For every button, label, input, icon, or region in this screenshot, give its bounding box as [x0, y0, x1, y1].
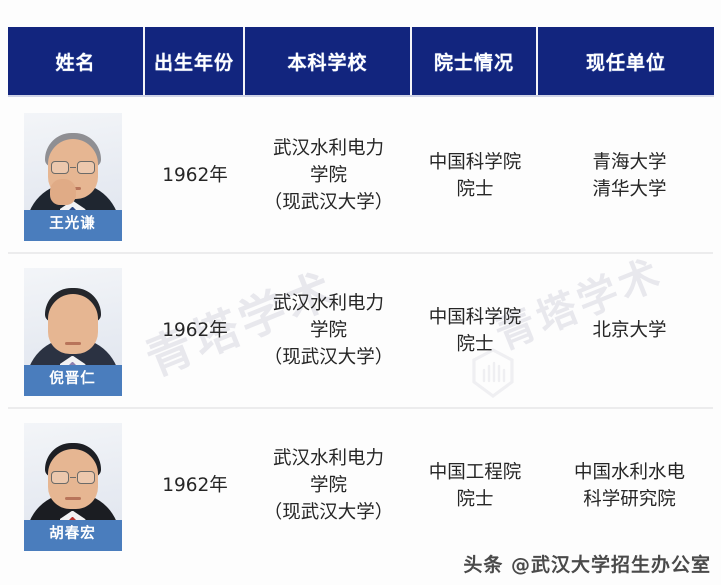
table-row: 倪晋仁 1962年 武汉水利电力 学院 （现武汉大学） 中国科学院 院士 北京大… — [0, 254, 721, 409]
person-name-tag: 胡春宏 — [24, 520, 122, 550]
cell-current-affiliation: 中国水利水电 科学研究院 — [538, 409, 721, 564]
cell-academician-status: 中国工程院 院士 — [412, 409, 538, 564]
cell-undergrad-school: 武汉水利电力 学院 （现武汉大学） — [245, 254, 412, 409]
footer-watermark: 头条 @武汉大学招生办公室 — [463, 550, 711, 577]
table-row: 王光谦 1962年 武汉水利电力 学院 （现武汉大学） 中国科学院 院士 青海大… — [0, 99, 721, 254]
cell-birth-year: 1962年 — [145, 99, 245, 254]
cell-name: 倪晋仁 — [0, 254, 145, 409]
cell-name: 王光谦 — [0, 99, 145, 254]
cell-name: 胡春宏 — [0, 409, 145, 564]
header-underline — [8, 95, 714, 97]
person-name-tag: 倪晋仁 — [24, 365, 122, 395]
portrait-with-name-tag: 王光谦 — [24, 113, 122, 241]
cell-current-affiliation: 青海大学 清华大学 — [538, 99, 721, 254]
column-header-name: 姓名 — [8, 27, 145, 95]
cell-current-affiliation: 北京大学 — [538, 254, 721, 409]
cell-academician-status: 中国科学院 院士 — [412, 254, 538, 409]
table-body: 王光谦 1962年 武汉水利电力 学院 （现武汉大学） 中国科学院 院士 青海大… — [0, 99, 721, 564]
column-header-academician-status: 院士情况 — [412, 27, 538, 95]
person-name-tag: 王光谦 — [24, 210, 122, 240]
column-header-undergrad-school: 本科学校 — [245, 27, 412, 95]
portrait-with-name-tag: 倪晋仁 — [24, 268, 122, 396]
cell-undergrad-school: 武汉水利电力 学院 （现武汉大学） — [245, 99, 412, 254]
cell-academician-status: 中国科学院 院士 — [412, 99, 538, 254]
table-header-row: 姓名 出生年份 本科学校 院士情况 现任单位 — [8, 27, 714, 95]
portrait-with-name-tag: 胡春宏 — [24, 423, 122, 551]
cell-birth-year: 1962年 — [145, 254, 245, 409]
table-row: 胡春宏 1962年 武汉水利电力 学院 （现武汉大学） 中国工程院 院士 中国水… — [0, 409, 721, 564]
column-header-birth-year: 出生年份 — [145, 27, 245, 95]
cell-undergrad-school: 武汉水利电力 学院 （现武汉大学） — [245, 409, 412, 564]
academician-table: 青塔学术 青塔学术 姓名 出生年份 本科学校 院士情况 现任单位 — [0, 0, 721, 585]
cell-birth-year: 1962年 — [145, 409, 245, 564]
column-header-current-affiliation: 现任单位 — [538, 27, 714, 95]
